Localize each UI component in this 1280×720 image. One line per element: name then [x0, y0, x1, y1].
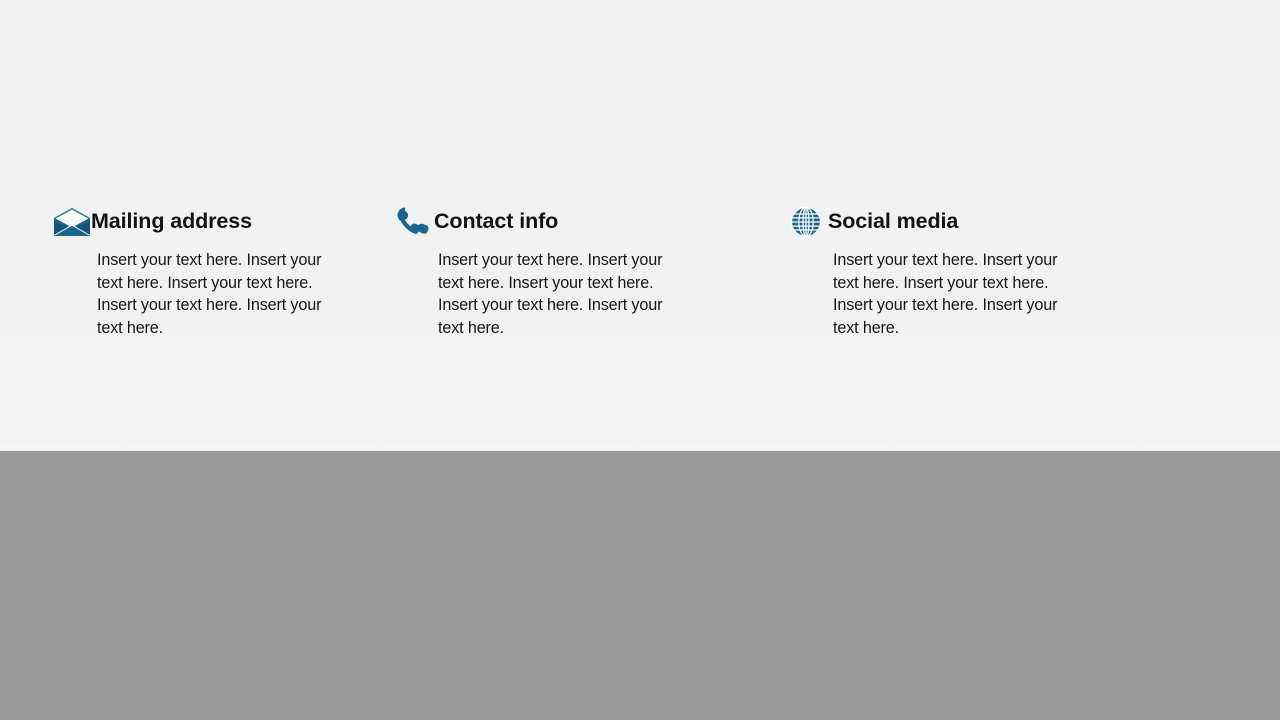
column-title: Social media [828, 211, 958, 233]
three-column-content: Mailing address Insert your text here. I… [0, 205, 1280, 339]
bottom-gray-band [0, 451, 1280, 720]
slide-canvas: Mailing address Insert your text here. I… [0, 0, 1280, 720]
column-body-text: Insert your text here. Insert your text … [790, 249, 1073, 339]
column-social-media[interactable]: Social media Insert your text here. Inse… [54, 205, 790, 339]
globe-icon [790, 206, 828, 238]
